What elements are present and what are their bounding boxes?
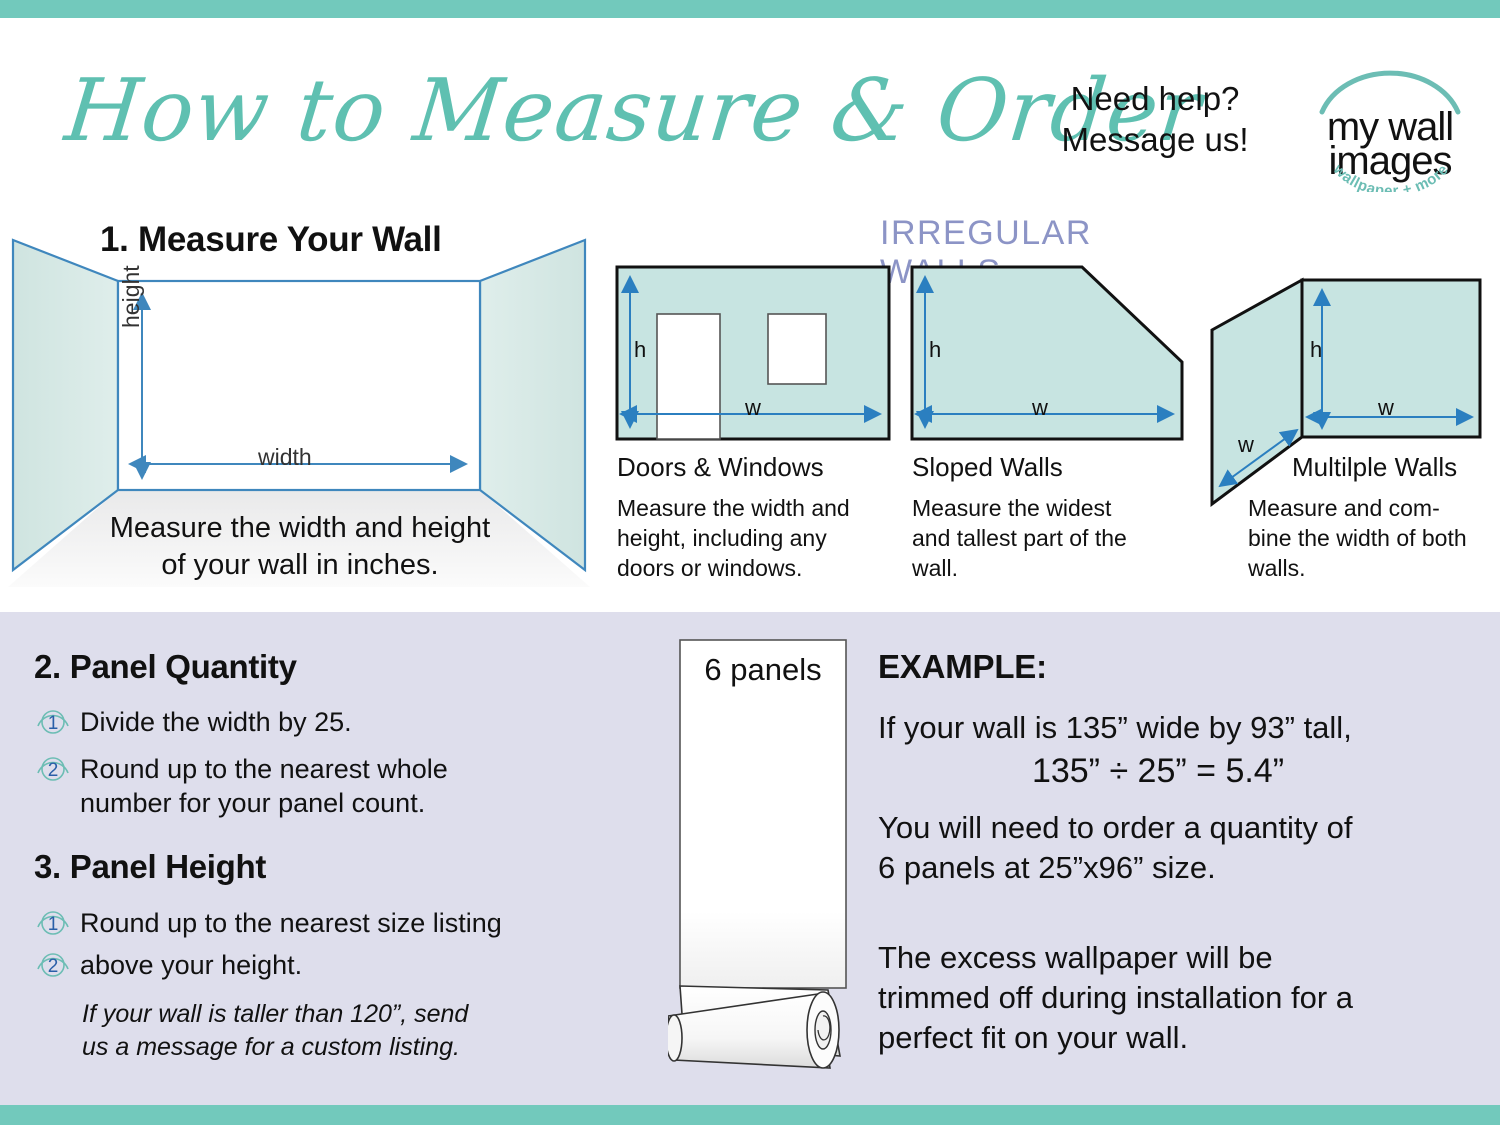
section-1-caption: Measure the width and height of your wal… [40,510,560,584]
room-width-label: width [258,444,312,471]
example-line-3c: perfect fit on your wall. [878,1018,1438,1058]
section-3-step-2: 2 above your height. [34,948,594,986]
multiple-walls-desc-line-3: walls. [1248,553,1498,583]
room-height-label: height [118,265,145,328]
example-line-2a: You will need to order a quantity of [878,808,1438,848]
need-help-line-2: Message us! [1030,119,1280,160]
step-badge-2-number: 2 [48,760,59,781]
section-2-step-2-line-2: number for your panel count. [80,788,425,818]
section-2-heading: 2. Panel Quantity [34,648,297,686]
sloped-walls-desc-line-2: and tallest part of the [912,523,1192,553]
section-2-step-2: 2 Round up to the nearest whole number f… [34,752,574,820]
section-3-heading: 3. Panel Height [34,848,266,886]
multiple-walls-desc-line-2: bine the width of both [1248,523,1498,553]
section-3-note-line-1: If your wall is taller than 120”, send [82,998,582,1031]
wallpaper-roll-illustration [668,638,858,1078]
section-2-step-1-text: Divide the width by 25. [80,705,352,739]
section-3-step-2-text: above your height. [80,948,302,982]
multiple-walls-desc-line-1: Measure and com- [1248,493,1498,523]
example-line-2b: 6 panels at 25”x96” size. [878,848,1438,888]
doors-windows-description: Measure the width and height, including … [617,493,897,583]
step-badge-3-icon: 1 [34,904,72,942]
example-line-2: You will need to order a quantity of 6 p… [878,808,1438,888]
doors-windows-desc-line-2: height, including any [617,523,897,553]
section-3-step-1-text: Round up to the nearest size listing [80,906,502,940]
roll-panel-count-label: 6 panels [678,652,848,688]
sloped-walls-description: Measure the widest and tallest part of t… [912,493,1192,583]
need-help-block: Need help? Message us! [1030,78,1280,160]
doors-windows-desc-line-1: Measure the width and [617,493,897,523]
sloped-walls-w-label: w [1032,395,1048,421]
section-1-caption-line-2: of your wall in inches. [40,547,560,584]
step-badge-4-icon: 2 [34,946,72,984]
multiple-walls-description: Measure and com- bine the width of both … [1248,493,1498,583]
bottom-accent-bar [0,1105,1500,1125]
sloped-walls-desc-line-3: wall. [912,553,1192,583]
sloped-walls-desc-line-1: Measure the widest [912,493,1192,523]
step-badge-1-number: 1 [48,713,59,734]
multiple-walls-h-label: h [1310,337,1322,363]
multiple-walls-w-label: w [1378,395,1394,421]
step-badge-3-number: 1 [48,914,59,935]
section-3-note: If your wall is taller than 120”, send u… [82,998,582,1064]
step-badge-1-icon: 1 [34,703,72,741]
multiple-walls-w2-label: w [1238,432,1254,458]
doors-windows-desc-line-3: doors or windows. [617,553,897,583]
example-line-3: The excess wallpaper will be trimmed off… [878,938,1438,1058]
step-badge-2-icon: 2 [34,750,72,788]
doors-windows-title: Doors & Windows [617,452,824,483]
sloped-walls-title: Sloped Walls [912,452,1063,483]
example-equation: 135” ÷ 25” = 5.4” [878,752,1438,791]
section-3-note-line-2: us a message for a custom listing. [82,1031,582,1064]
section-1-caption-line-1: Measure the width and height [40,510,560,547]
example-line-3b: trimmed off during installation for a [878,978,1438,1018]
section-2-step-2-text: Round up to the nearest whole number for… [80,752,448,820]
top-accent-bar [0,0,1500,18]
infographic-page: How to Measure & Order Need help? Messag… [0,0,1500,1125]
sloped-walls-h-label: h [929,337,941,363]
brand-logo: my wall images wallpaper + more [1300,52,1480,192]
multiple-walls-title: Multilple Walls [1292,452,1457,483]
page-title: How to Measure & Order [59,46,1033,176]
sloped-walls-diagram [910,262,1190,447]
section-2-step-1: 1 Divide the width by 25. [34,705,574,743]
example-heading: EXAMPLE: [878,648,1047,686]
doors-windows-h-label: h [634,337,646,363]
step-badge-4-number: 2 [48,956,59,977]
section-2-step-2-line-1: Round up to the nearest whole [80,754,448,784]
example-line-3a: The excess wallpaper will be [878,938,1438,978]
section-3-step-1: 1 Round up to the nearest size listing [34,906,594,944]
example-line-1: If your wall is 135” wide by 93” tall, [878,708,1438,748]
need-help-line-1: Need help? [1030,78,1280,119]
doors-windows-w-label: w [745,395,761,421]
section-1-heading: 1. Measure Your Wall [100,220,520,260]
